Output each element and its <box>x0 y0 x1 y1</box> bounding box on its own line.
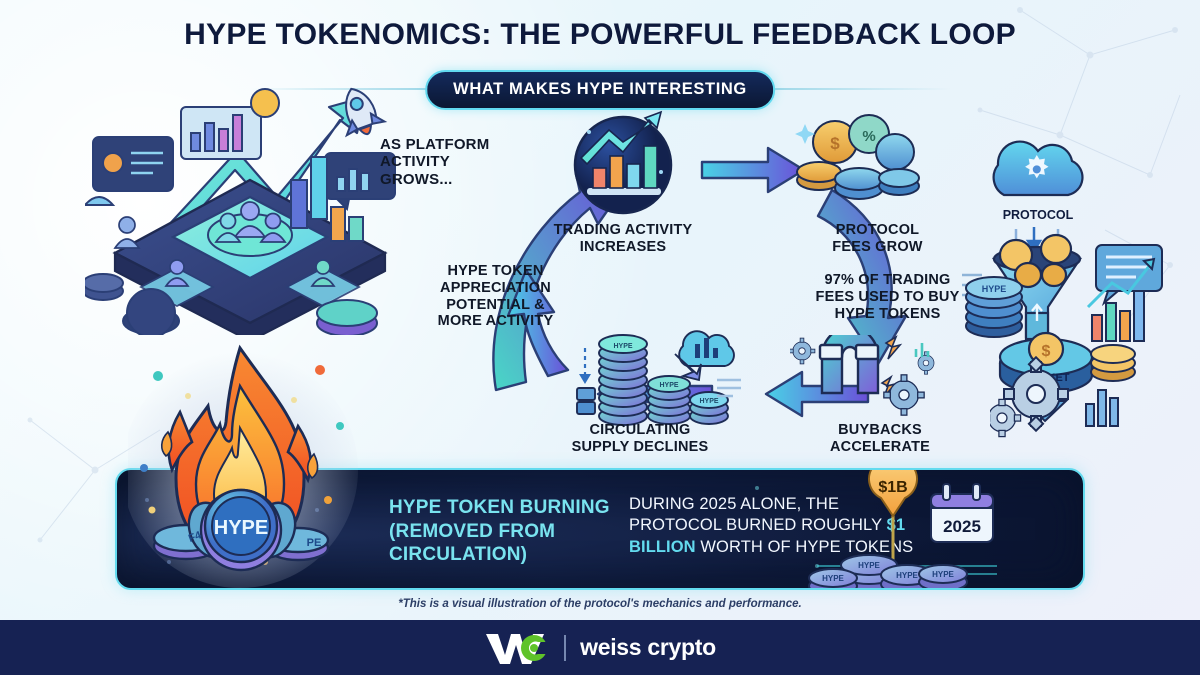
brand-name: weiss crypto <box>580 634 716 661</box>
protocol-cloud-label: PROTOCOL <box>1003 208 1074 222</box>
calendar-year-label: 2025 <box>943 517 981 536</box>
burn-amount-illustration: $1B 2025 HY <box>803 470 1083 590</box>
banner-heading: HYPE TOKEN BURNING (REMOVED FROM CIRCULA… <box>389 496 639 567</box>
svg-text:HYPE: HYPE <box>896 571 918 580</box>
svg-text:HYPE: HYPE <box>613 343 632 350</box>
subtitle-badge: WHAT MAKES HYPE INTERESTING <box>425 70 775 110</box>
cycle-label-supply-declines: CIRCULATING SUPPLY DECLINES <box>540 422 740 456</box>
weiss-logo-icon <box>484 631 550 665</box>
hype-coin-label: HYPE <box>214 517 268 539</box>
cycle-label-buybacks: BUYBACKS ACCELERATE <box>790 422 970 456</box>
svg-text:HYPE: HYPE <box>932 570 954 579</box>
platform-activity-illustration <box>85 85 415 335</box>
cycle-label-fee-buyback: 97% OF TRADING FEES USED TO BUY HYPE TOK… <box>795 272 980 322</box>
svg-text:HYPE: HYPE <box>822 574 844 583</box>
footnote: *This is a visual illustration of the pr… <box>0 598 1200 610</box>
cycle-label-protocol-fees: PROTOCOL FEES GROW <box>790 222 965 256</box>
svg-text:$: $ <box>830 134 840 153</box>
logo-divider <box>564 635 566 661</box>
hype-coin-stack-icon: HYPE <box>960 274 1030 340</box>
svg-text:%: % <box>862 128 875 145</box>
svg-text:HYPE: HYPE <box>659 382 678 389</box>
svg-text:PE: PE <box>307 537 322 549</box>
svg-text:HYPE: HYPE <box>858 561 880 570</box>
token-burning-flame-illustration: HYPE F4 PE <box>128 340 358 590</box>
footer-bar: weiss crypto <box>0 620 1200 675</box>
declining-stacks-icon: HYPE HYPE HYPE <box>565 328 745 428</box>
cycle-label-token-appreciation: HYPE TOKEN APPRECIATION POTENTIAL & MORE… <box>403 263 588 330</box>
coin-stack-ticker: HYPE <box>982 284 1007 294</box>
magnet-icon <box>790 335 940 425</box>
svg-text:HYPE: HYPE <box>699 398 718 405</box>
infographic-canvas: HYPE TOKENOMICS: THE POWERFUL FEEDBACK L… <box>0 0 1200 675</box>
coin-stack-icon: $ % <box>795 110 925 215</box>
bar-chart-growth-icon <box>565 110 685 220</box>
cycle-label-trading-activity: TRADING ACTIVITY INCREASES <box>528 222 718 256</box>
pin-amount-label: $1B <box>878 479 907 496</box>
arrow-right-top <box>702 148 804 192</box>
page-title: HYPE TOKENOMICS: THE POWERFUL FEEDBACK L… <box>0 18 1200 52</box>
gold-coins-icon <box>1085 340 1145 386</box>
